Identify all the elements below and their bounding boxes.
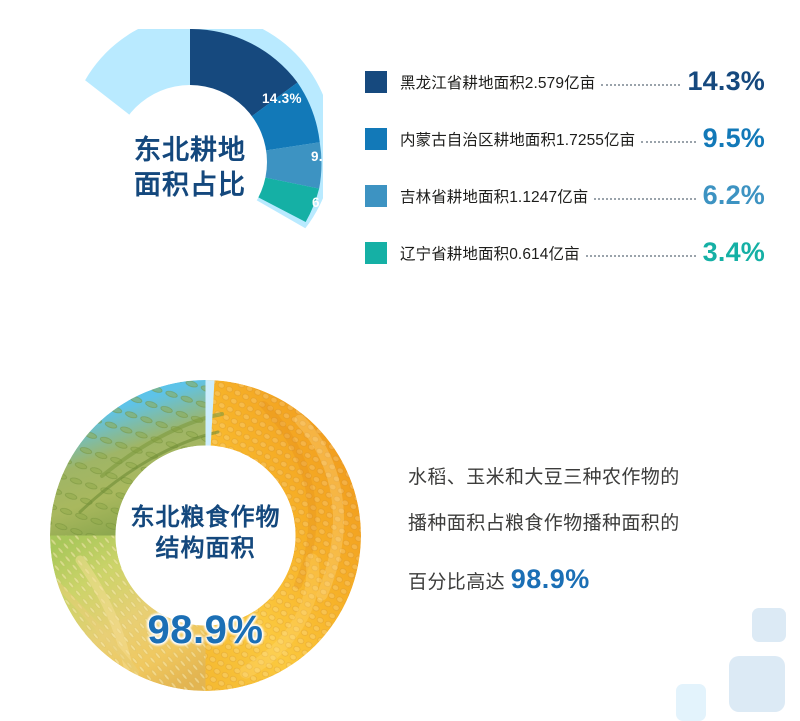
legend-swatch-jilin bbox=[365, 185, 387, 207]
legend-label-neimenggu: 内蒙古自治区耕地面积1.7255亿亩 bbox=[400, 128, 635, 150]
legend-percent-neimenggu: 9.5% bbox=[703, 123, 765, 154]
farmland-donut-svg bbox=[57, 29, 323, 295]
farmland-donut-chart: 东北耕地 面积占比 14.3% 9.5% 6.2% 3.4% bbox=[57, 29, 323, 295]
grain-note-line-1: 水稻、玉米和大豆三种农作物的 bbox=[408, 455, 758, 501]
grain-donut-svg bbox=[50, 380, 361, 691]
decorative-square-small bbox=[676, 684, 706, 721]
grain-note-line-2: 播种面积占粮食作物播种面积的 bbox=[408, 501, 758, 547]
legend-leader-liaoning bbox=[586, 254, 696, 257]
legend-row-liaoning: 辽宁省耕地面积0.614亿亩 3.4% bbox=[365, 224, 765, 281]
decorative-square-medium bbox=[752, 608, 786, 642]
legend-swatch-neimenggu bbox=[365, 128, 387, 150]
decorative-square-large bbox=[729, 656, 785, 712]
grain-donut-chart: 东北粮食作物 结构面积 98.9% bbox=[50, 380, 361, 691]
legend-percent-heilongjiang: 14.3% bbox=[687, 66, 765, 97]
legend-leader-jilin bbox=[594, 197, 695, 200]
legend-label-liaoning: 辽宁省耕地面积0.614亿亩 bbox=[400, 242, 580, 264]
legend-swatch-heilongjiang bbox=[365, 71, 387, 93]
grain-note: 水稻、玉米和大豆三种农作物的 播种面积占粮食作物播种面积的 百分比高达 98.9… bbox=[408, 455, 758, 612]
legend-percent-liaoning: 3.4% bbox=[703, 237, 765, 268]
legend-leader-heilongjiang bbox=[601, 83, 680, 86]
legend-row-heilongjiang: 黑龙江省耕地面积2.579亿亩 14.3% bbox=[365, 53, 765, 110]
legend-leader-neimenggu bbox=[641, 140, 695, 143]
farmland-legend: 黑龙江省耕地面积2.579亿亩 14.3% 内蒙古自治区耕地面积1.7255亿亩… bbox=[365, 53, 765, 281]
infographic-page: 东北耕地 面积占比 14.3% 9.5% 6.2% 3.4% 黑龙江省耕地面积2… bbox=[0, 0, 800, 721]
grain-note-line-3-prefix: 百分比高达 bbox=[408, 572, 505, 593]
grain-note-line-3: 百分比高达 98.9% bbox=[408, 547, 758, 612]
legend-row-neimenggu: 内蒙古自治区耕地面积1.7255亿亩 9.5% bbox=[365, 110, 765, 167]
donut-hole bbox=[113, 85, 267, 239]
legend-label-heilongjiang: 黑龙江省耕地面积2.579亿亩 bbox=[400, 71, 595, 93]
legend-row-jilin: 吉林省耕地面积1.1247亿亩 6.2% bbox=[365, 167, 765, 224]
grain-note-highlight: 98.9% bbox=[511, 564, 590, 594]
grain-donut-hole bbox=[116, 446, 296, 626]
legend-swatch-liaoning bbox=[365, 242, 387, 264]
legend-label-jilin: 吉林省耕地面积1.1247亿亩 bbox=[400, 185, 588, 207]
legend-percent-jilin: 6.2% bbox=[703, 180, 765, 211]
